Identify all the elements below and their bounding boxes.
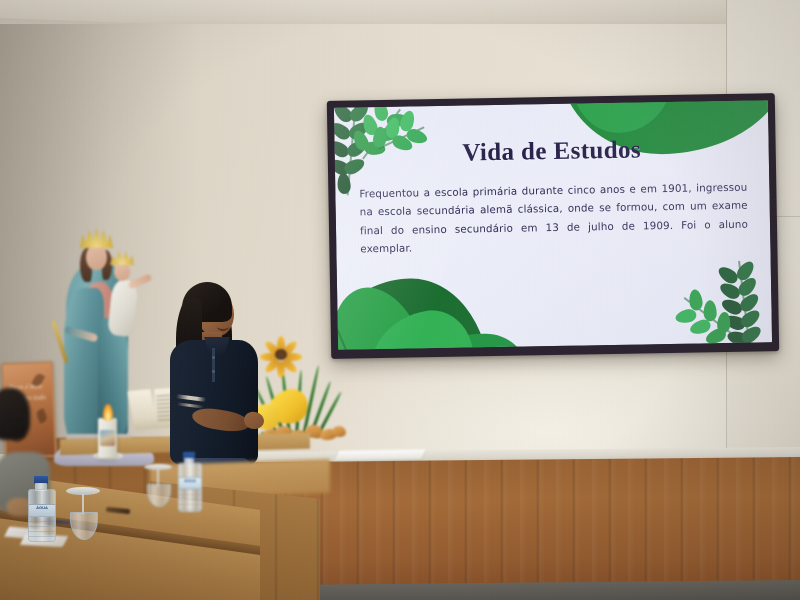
glass-bowl	[147, 484, 170, 507]
poster-leaf-icon	[35, 408, 48, 423]
statue-child-crown-icon	[110, 250, 134, 265]
presenter-placket	[212, 348, 215, 382]
wine-glass-front[interactable]	[66, 487, 100, 537]
eyeglasses-icon	[0, 414, 26, 425]
water-bottle-front[interactable]: ÁGUA	[28, 476, 54, 542]
wine-glass-back[interactable]	[144, 464, 172, 504]
papers-on-counter	[334, 449, 425, 460]
presenter-smile	[217, 322, 229, 331]
statue-crown-icon	[80, 228, 113, 248]
bottle-label: ÁGUA	[29, 504, 55, 517]
tv-screen: Vida de Estudos Frequentou a escola prim…	[334, 100, 772, 350]
glass-bowl	[70, 512, 98, 540]
bottle-ribs	[29, 516, 55, 540]
water-bottle-back: ÁGUA	[178, 452, 200, 512]
statue-child-arm	[128, 273, 153, 289]
candle-flame-icon	[103, 404, 113, 421]
presenter-button-icon	[212, 356, 215, 359]
bottle-body: ÁGUA	[178, 463, 202, 512]
glass-stem	[82, 494, 85, 514]
bottle-ribs	[179, 489, 201, 511]
slide-body-text: Frequentou a escola primária durante cin…	[359, 179, 748, 259]
bottle-body: ÁGUA	[28, 489, 56, 542]
wall-mounted-tv[interactable]: Vida de Estudos Frequentou a escola prim…	[327, 93, 779, 359]
candle-image-icon	[100, 430, 115, 446]
presentation-slide: Vida de Estudos Frequentou a escola prim…	[334, 100, 772, 350]
presenter-button-icon	[212, 370, 215, 373]
wood-cabinet-wall	[250, 457, 800, 592]
bottle-label-text: ÁGUA	[29, 505, 55, 516]
bottle-label-text: ÁGUA	[179, 478, 201, 488]
bread-roll	[332, 425, 347, 437]
presentation-room-photo: Vida de Estudos Frequentou a escola prim…	[0, 0, 800, 600]
devotional-candle	[98, 418, 117, 458]
bottle-label: ÁGUA	[179, 477, 201, 489]
